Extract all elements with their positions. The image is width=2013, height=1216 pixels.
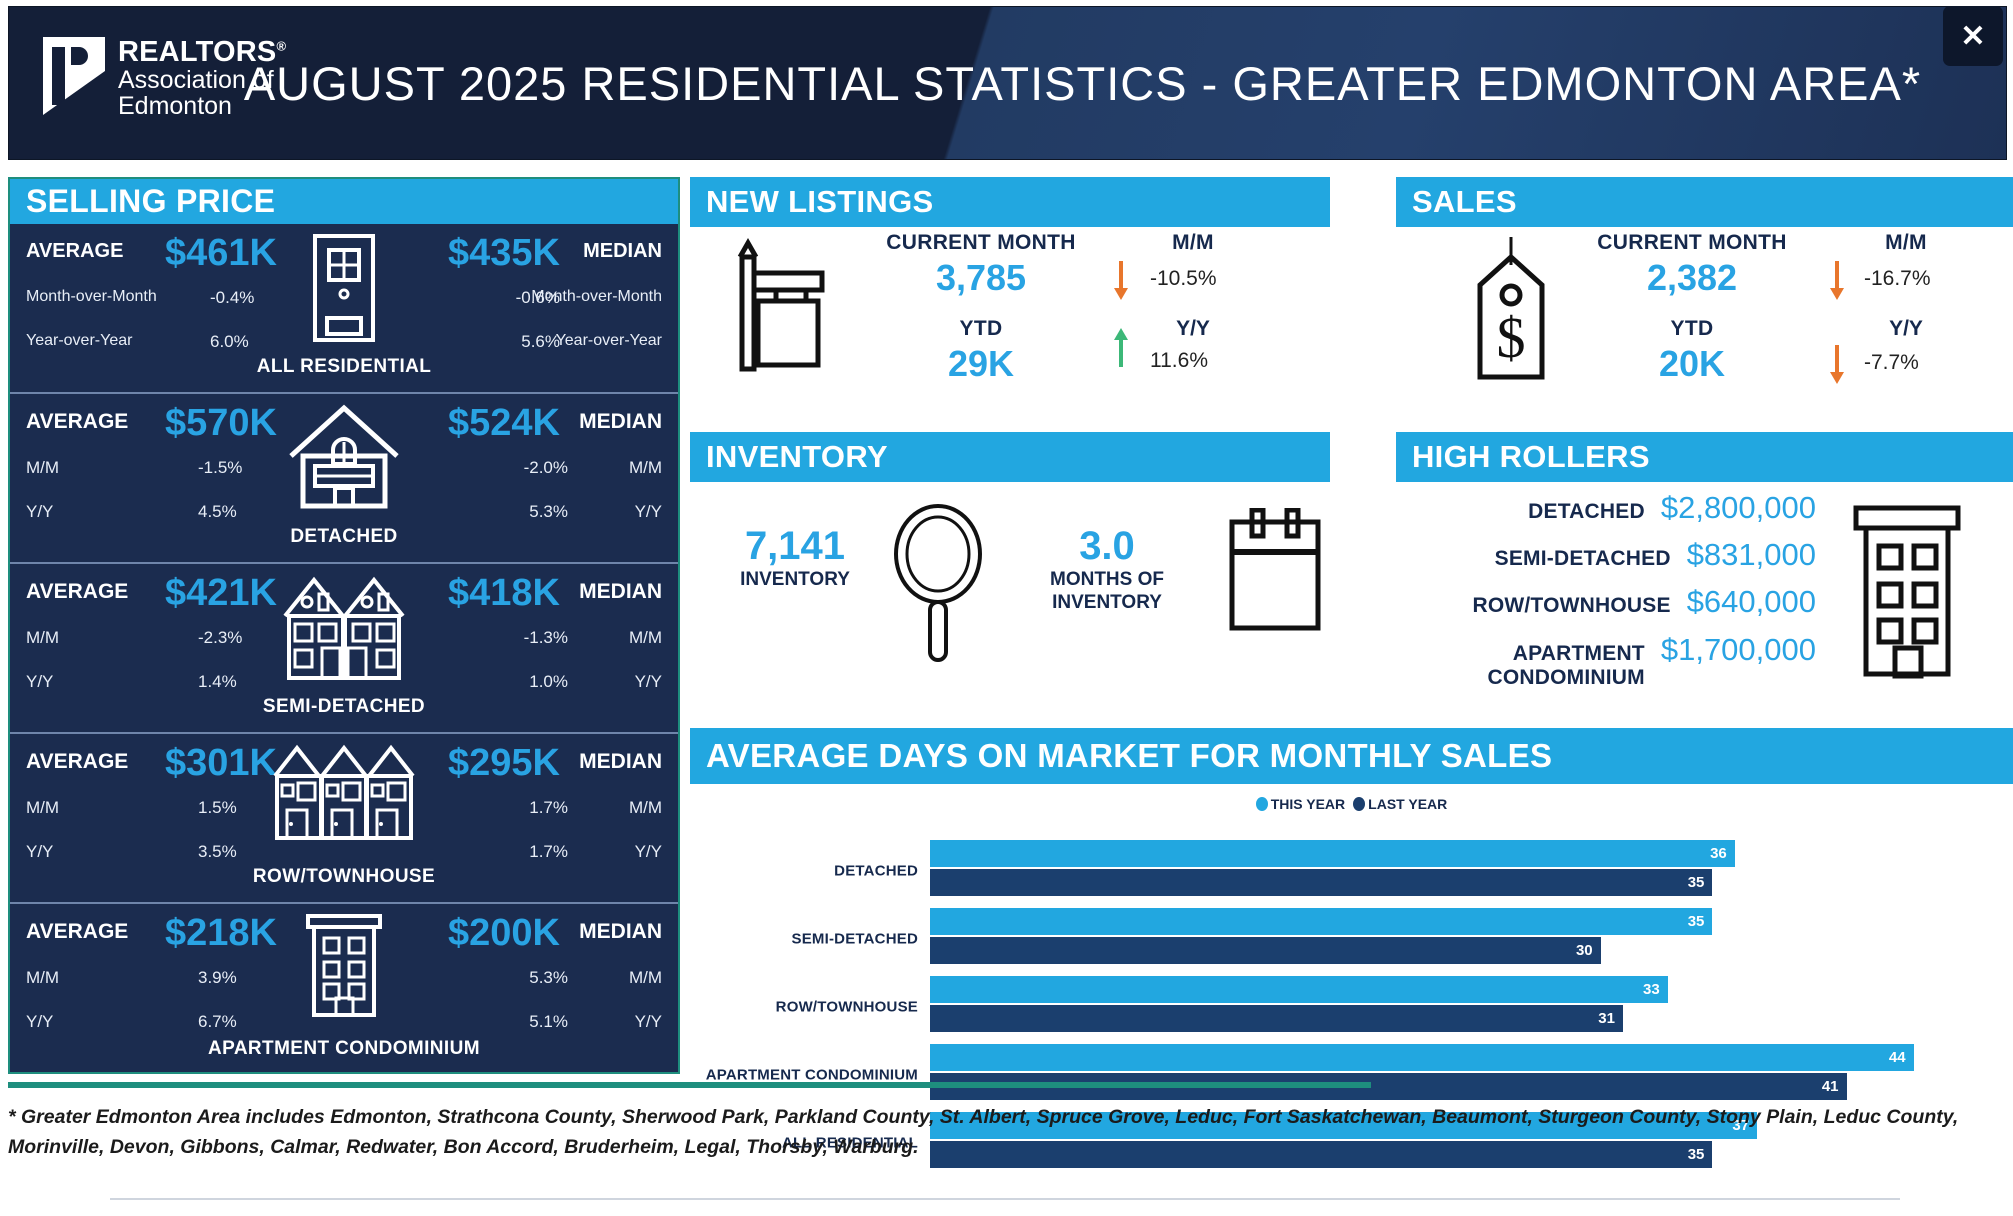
logo-mark-icon	[43, 37, 105, 115]
inventory-body: 7,141 INVENTORY 3.0 MONTHS OF INVENTORY	[690, 482, 1330, 672]
high-rollers-label: SEMI-DETACHED	[1495, 547, 1671, 571]
sales-mm-label: M/M	[1806, 231, 2006, 255]
yy-average-value: 6.7%	[198, 1012, 237, 1032]
legend-label: THIS YEAR	[1271, 796, 1345, 812]
mom-average-value: -0.4%	[210, 288, 254, 308]
mm-average-value: 1.5%	[198, 798, 237, 818]
inventory-title: INVENTORY	[690, 432, 1330, 482]
bottom-divider	[110, 1198, 1900, 1200]
mm-median-value: -2.0%	[524, 458, 568, 478]
svg-text:$: $	[1497, 305, 1526, 370]
chart-bar-this-year: 33	[930, 976, 1668, 1003]
median-label: MEDIAN	[579, 750, 662, 774]
apartment-building-icon	[1848, 502, 1966, 680]
yy-median-value: 5.1%	[529, 1012, 568, 1032]
average-value: $461K	[165, 232, 277, 275]
apartment-icon	[302, 912, 386, 1020]
yy-label-right: Y/Y	[635, 502, 662, 522]
yy-label-right: Y/Y	[635, 842, 662, 862]
high-rollers-label: APARTMENT CONDOMINIUM	[1396, 642, 1645, 690]
mm-label-left: M/M	[26, 458, 59, 478]
yy-label-left: Y/Y	[26, 842, 53, 862]
chart-bar-last-year: 31	[930, 1005, 1623, 1032]
category-label: ALL RESIDENTIAL	[10, 356, 678, 378]
median-label: MEDIAN	[579, 920, 662, 944]
selling-price-row-semi-detached: AVERAGE $421K $418K MEDIAN M/M -2.3% -1.…	[10, 564, 678, 734]
days-on-market-chart-panel: AVERAGE DAYS ON MARKET FOR MONTHLY SALES…	[690, 728, 2013, 1080]
sales-current-month-value: 2,382	[1582, 257, 1802, 299]
median-value: $435K	[448, 232, 560, 275]
category-label: DETACHED	[10, 526, 678, 548]
page-title: AUGUST 2025 RESIDENTIAL STATISTICS - GRE…	[9, 7, 2006, 159]
high-rollers-value: $1,700,000	[1661, 632, 1816, 668]
yy-label-left: Y/Y	[26, 672, 53, 692]
mm-label-left: M/M	[26, 798, 59, 818]
mm-median-value: -1.3%	[524, 628, 568, 648]
chart-legend: THIS YEAR LAST YEAR	[690, 784, 2013, 812]
chart-category-label: DETACHED	[690, 863, 918, 880]
chart-body: THIS YEAR LAST YEAR DETACHED3635SEMI-DET…	[690, 784, 2013, 1080]
new-listings-current-month-label: CURRENT MONTH	[886, 231, 1076, 255]
logo-line1: REALTORS	[118, 36, 276, 68]
footer-divider	[8, 1082, 1371, 1088]
semi-detached-icon	[281, 572, 407, 688]
yoy-median-value: 5.6%	[521, 332, 560, 352]
yy-median-value: 1.0%	[529, 672, 568, 692]
mm-label-right: M/M	[629, 628, 662, 648]
infographic-page: REALTORS® Association of Edmonton AUGUST…	[0, 0, 2013, 1216]
yoy-label-right: Year-over-Year	[556, 332, 662, 350]
legend-dot-icon	[1256, 797, 1268, 811]
median-label: MEDIAN	[583, 240, 662, 263]
average-label: AVERAGE	[26, 580, 128, 604]
average-label: AVERAGE	[26, 920, 128, 944]
mm-average-value: -2.3%	[198, 628, 242, 648]
yy-label-right: Y/Y	[635, 672, 662, 692]
logo-line3: Edmonton	[118, 93, 286, 119]
legend-label: LAST YEAR	[1368, 796, 1447, 812]
new-listings-yy-value: 11.6%	[1150, 349, 1208, 373]
chart-bar-this-year: 35	[930, 908, 1712, 935]
new-listings-mm-label: M/M	[1088, 231, 1298, 255]
median-value: $418K	[448, 572, 560, 615]
logo-line2: Association of	[118, 67, 286, 93]
high-rollers-panel: HIGH ROLLERS DETACHED $2,800,000 SEMI-DE…	[1396, 432, 2013, 694]
sales-ytd-label: YTD	[1582, 317, 1802, 341]
average-label: AVERAGE	[26, 240, 123, 263]
mm-label-right: M/M	[629, 798, 662, 818]
months-of-inventory-label-line2: INVENTORY	[1052, 592, 1162, 613]
average-label: AVERAGE	[26, 410, 128, 434]
mm-label-left: M/M	[26, 968, 59, 988]
new-listings-current-month-value: 3,785	[886, 257, 1076, 299]
sales-ytd-value: 20K	[1582, 343, 1802, 385]
chart-category-label: SEMI-DETACHED	[690, 931, 918, 948]
months-of-inventory-label-line1: MONTHS OF	[1050, 569, 1164, 590]
chart-bar-group: APARTMENT CONDOMINIUM4441	[690, 1044, 2003, 1106]
high-rollers-row: SEMI-DETACHED $831,000	[1396, 537, 1816, 573]
price-tag-icon: $	[1466, 235, 1556, 385]
chart-category-label: ROW/TOWNHOUSE	[690, 999, 918, 1016]
median-value: $524K	[448, 402, 560, 445]
arrow-up-icon	[1112, 327, 1130, 369]
mom-label-left: Month-over-Month	[26, 288, 157, 306]
category-label: APARTMENT CONDOMINIUM	[10, 1038, 678, 1060]
high-rollers-label: ROW/TOWNHOUSE	[1472, 594, 1670, 618]
high-rollers-value: $2,800,000	[1661, 490, 1816, 526]
legend-item-this-year: THIS YEAR	[1256, 796, 1345, 812]
chart-category-label: APARTMENT CONDOMINIUM	[690, 1067, 918, 1084]
high-rollers-label: DETACHED	[1528, 500, 1645, 524]
median-value: $295K	[448, 742, 560, 785]
new-listings-panel: NEW LISTINGS CURRENT MONTH 3,785 YTD 29K	[690, 177, 1330, 417]
yy-label-left: Y/Y	[26, 1012, 53, 1032]
selling-price-row-apartment-condominium: AVERAGE $218K $200K MEDIAN M/M 3.9% 5.3%…	[10, 904, 678, 1074]
chart-bars-area: DETACHED3635SEMI-DETACHED3530ROW/TOWNHOU…	[690, 840, 2003, 1072]
months-of-inventory-value: 3.0	[1012, 524, 1202, 569]
yy-average-value: 3.5%	[198, 842, 237, 862]
high-rollers-row: ROW/TOWNHOUSE $640,000	[1396, 584, 1816, 620]
realtors-association-logo: REALTORS® Association of Edmonton	[43, 37, 286, 119]
sales-current-month-label: CURRENT MONTH	[1582, 231, 1802, 255]
close-icon[interactable]: ✕	[1943, 6, 2003, 66]
sales-title: SALES	[1396, 177, 2013, 227]
mm-label-right: M/M	[629, 458, 662, 478]
chart-bar-group: ROW/TOWNHOUSE3331	[690, 976, 2003, 1038]
yy-average-value: 1.4%	[198, 672, 237, 692]
inventory-count-value: 7,141	[710, 524, 880, 569]
inventory-panel: INVENTORY 7,141 INVENTORY 3.0 MONTHS OF …	[690, 432, 1330, 672]
yy-median-value: 5.3%	[529, 502, 568, 522]
townhouse-icon	[271, 742, 417, 846]
mm-average-value: -1.5%	[198, 458, 242, 478]
house-icon	[285, 402, 403, 514]
chart-bar-group: DETACHED3635	[690, 840, 2003, 902]
new-listings-ytd-label: YTD	[886, 317, 1076, 341]
yy-label-left: Y/Y	[26, 502, 53, 522]
high-rollers-row: APARTMENT CONDOMINIUM $1,700,000	[1396, 632, 1816, 690]
mom-label-right: Month-over-Month	[531, 288, 662, 306]
high-rollers-row: DETACHED $2,800,000	[1396, 490, 1816, 526]
magnifier-icon	[888, 500, 988, 668]
door-icon	[307, 232, 381, 344]
chart-bar-last-year: 35	[930, 869, 1712, 896]
footnote: * Greater Edmonton Area includes Edmonto…	[8, 1102, 1998, 1162]
page-header: REALTORS® Association of Edmonton AUGUST…	[8, 6, 2007, 160]
arrow-down-icon	[1828, 259, 1846, 301]
average-label: AVERAGE	[26, 750, 128, 774]
arrow-down-icon	[1828, 343, 1846, 385]
selling-price-row-all-residential: AVERAGE $461K $435K MEDIAN Month-over-Mo…	[10, 224, 678, 394]
new-listings-title: NEW LISTINGS	[690, 177, 1330, 227]
high-rollers-value: $640,000	[1687, 584, 1816, 620]
selling-price-title: SELLING PRICE	[10, 179, 678, 224]
sales-body: $ CURRENT MONTH 2,382 YTD 20K M/M -16.7%	[1396, 227, 2013, 417]
average-value: $421K	[165, 572, 277, 615]
new-listings-body: CURRENT MONTH 3,785 YTD 29K M/M -10.5% Y…	[690, 227, 1330, 417]
chart-bar-this-year: 36	[930, 840, 1735, 867]
sales-yy-value: -7.7%	[1864, 351, 1919, 375]
inventory-count-label: INVENTORY	[710, 569, 880, 592]
average-value: $570K	[165, 402, 277, 445]
new-listings-mm-value: -10.5%	[1150, 267, 1217, 291]
median-label: MEDIAN	[579, 410, 662, 434]
new-listings-ytd-value: 29K	[886, 343, 1076, 385]
mm-median-value: 1.7%	[529, 798, 568, 818]
mm-label-left: M/M	[26, 628, 59, 648]
average-value: $218K	[165, 912, 277, 955]
high-rollers-value: $831,000	[1687, 537, 1816, 573]
category-label: ROW/TOWNHOUSE	[10, 866, 678, 888]
chart-bar-this-year: 44	[930, 1044, 1914, 1071]
selling-price-row-row-townhouse: AVERAGE $301K $295K MEDIAN M/M 1.5% 1.7%…	[10, 734, 678, 904]
yy-label-right: Y/Y	[635, 1012, 662, 1032]
average-value: $301K	[165, 742, 277, 785]
yy-median-value: 1.7%	[529, 842, 568, 862]
selling-price-row-detached: AVERAGE $570K $524K MEDIAN M/M -1.5% -2.…	[10, 394, 678, 564]
sales-yy-label: Y/Y	[1806, 317, 2006, 341]
chart-bar-group: SEMI-DETACHED3530	[690, 908, 2003, 970]
selling-price-panel: SELLING PRICE AVERAGE $461K $435K MEDIAN…	[8, 177, 680, 1074]
high-rollers-body: DETACHED $2,800,000 SEMI-DETACHED $831,0…	[1396, 482, 2013, 694]
selling-price-body: AVERAGE $461K $435K MEDIAN Month-over-Mo…	[10, 224, 678, 1074]
sales-panel: SALES $ CURRENT MONTH 2,382 YTD 20K M/M	[1396, 177, 2013, 417]
registered-mark-icon: ®	[276, 38, 286, 53]
legend-dot-icon	[1353, 797, 1365, 811]
arrow-down-icon	[1112, 259, 1130, 301]
legend-item-last-year: LAST YEAR	[1353, 796, 1447, 812]
sales-mm-value: -16.7%	[1864, 267, 1931, 291]
for-sale-sign-icon	[718, 235, 828, 375]
mm-median-value: 5.3%	[529, 968, 568, 988]
chart-bar-last-year: 30	[930, 937, 1601, 964]
median-value: $200K	[448, 912, 560, 955]
yoy-label-left: Year-over-Year	[26, 332, 132, 350]
calendar-icon	[1220, 508, 1330, 648]
mm-average-value: 3.9%	[198, 968, 237, 988]
median-label: MEDIAN	[579, 580, 662, 604]
category-label: SEMI-DETACHED	[10, 696, 678, 718]
yoy-average-value: 6.0%	[210, 332, 249, 352]
yy-average-value: 4.5%	[198, 502, 237, 522]
high-rollers-title: HIGH ROLLERS	[1396, 432, 2013, 482]
chart-title: AVERAGE DAYS ON MARKET FOR MONTHLY SALES	[690, 728, 2013, 784]
mm-label-right: M/M	[629, 968, 662, 988]
